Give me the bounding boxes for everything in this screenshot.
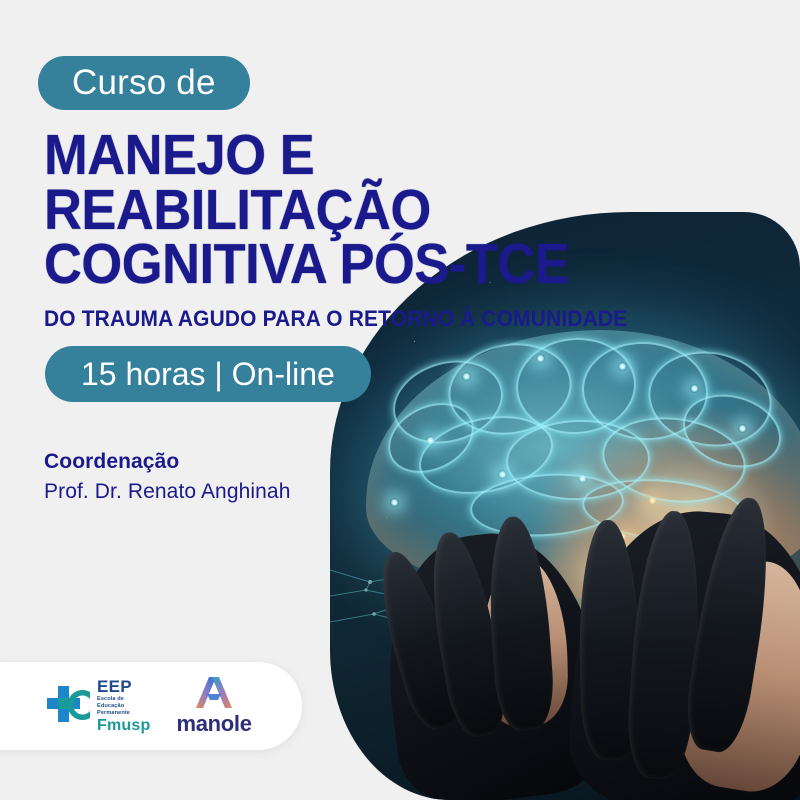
- course-poster: Curso de MANEJO E REABILITAÇÃO COGNITIVA…: [0, 0, 800, 800]
- fmusp-label: Fmusp: [97, 718, 150, 734]
- coordination-label: Coordenação: [44, 450, 291, 474]
- hc-cross-icon: [46, 684, 92, 728]
- synapse-spark: [390, 498, 399, 507]
- manole-mark-icon: [192, 675, 236, 709]
- page-subtitle: DO TRAUMA AGUDO PARA O RETORNO À COMUNID…: [44, 306, 627, 332]
- kicker-label: Curso de: [72, 63, 216, 103]
- eep-fullname: Escola de Educação Permanente: [97, 696, 150, 717]
- logo-bar: EEP Escola de Educação Permanente Fmusp: [0, 662, 302, 750]
- brain-artwork-panel: [330, 212, 800, 800]
- coordinator-name: Prof. Dr. Renato Anghinah: [44, 480, 291, 504]
- synapse-spark: [690, 384, 699, 393]
- synapse-spark-warm: [648, 496, 657, 505]
- eep-fmusp-logo: EEP Escola de Educação Permanente Fmusp: [46, 678, 150, 735]
- hours-badge: 15 horas | On-line: [45, 346, 371, 402]
- right-hand-graphic: [563, 502, 800, 800]
- coordination-block: Coordenação Prof. Dr. Renato Anghinah: [44, 450, 291, 504]
- synapse-spark: [618, 362, 627, 371]
- manole-logo: manole: [176, 675, 251, 737]
- synapse-spark: [426, 436, 435, 445]
- synapse-spark: [738, 424, 747, 433]
- synapse-spark: [498, 470, 507, 479]
- manole-wordmark: manole: [176, 711, 251, 737]
- synapse-spark: [462, 372, 471, 381]
- synapse-spark: [536, 354, 545, 363]
- kicker-badge: Curso de: [38, 56, 250, 110]
- page-title: MANEJO E REABILITAÇÃO COGNITIVA PÓS-TCE: [44, 128, 569, 292]
- eep-abbreviation: EEP: [97, 678, 150, 695]
- hours-badge-label: 15 horas | On-line: [81, 356, 335, 393]
- synapse-spark: [578, 474, 587, 483]
